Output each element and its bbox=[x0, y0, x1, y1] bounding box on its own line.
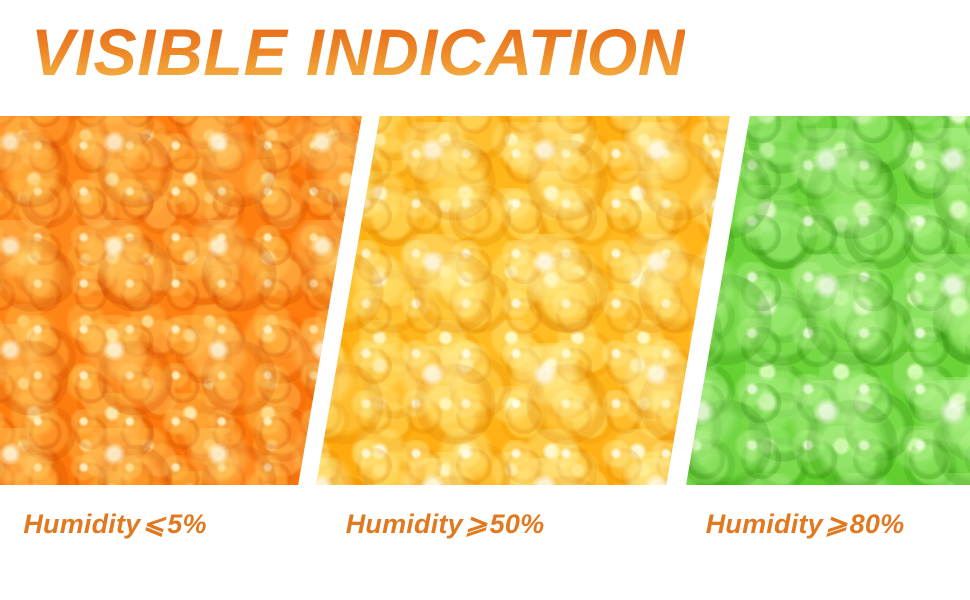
caption-symbol: ⩾ bbox=[463, 509, 490, 539]
bead-photo-orange bbox=[0, 116, 362, 485]
caption-value: 5% bbox=[167, 509, 206, 539]
caption-label: Humidity bbox=[706, 509, 823, 539]
bead-photo-green bbox=[686, 116, 970, 485]
bead-shading-overlay bbox=[686, 116, 970, 485]
bead-shading-overlay bbox=[0, 116, 362, 485]
bead-shading-overlay bbox=[316, 116, 730, 485]
bead-panel-dry bbox=[0, 116, 362, 485]
caption-value: 50% bbox=[490, 509, 545, 539]
caption-value: 80% bbox=[850, 509, 905, 539]
visible-indication-banner: VISIBLE INDICATION bbox=[0, 0, 970, 600]
bead-photo-amber bbox=[316, 116, 730, 485]
caption-label: Humidity bbox=[346, 509, 463, 539]
caption-label: Humidity bbox=[23, 509, 140, 539]
bead-panel-saturated bbox=[686, 116, 970, 485]
caption-panel-mid: Humidity⩾50% bbox=[330, 509, 560, 540]
caption-symbol: ⩽ bbox=[140, 509, 167, 539]
bead-panel-mid bbox=[316, 116, 730, 485]
caption-panel-dry: Humidity⩽5% bbox=[0, 509, 230, 540]
caption-panel-saturated: Humidity⩾80% bbox=[690, 509, 920, 540]
caption-symbol: ⩾ bbox=[823, 509, 850, 539]
